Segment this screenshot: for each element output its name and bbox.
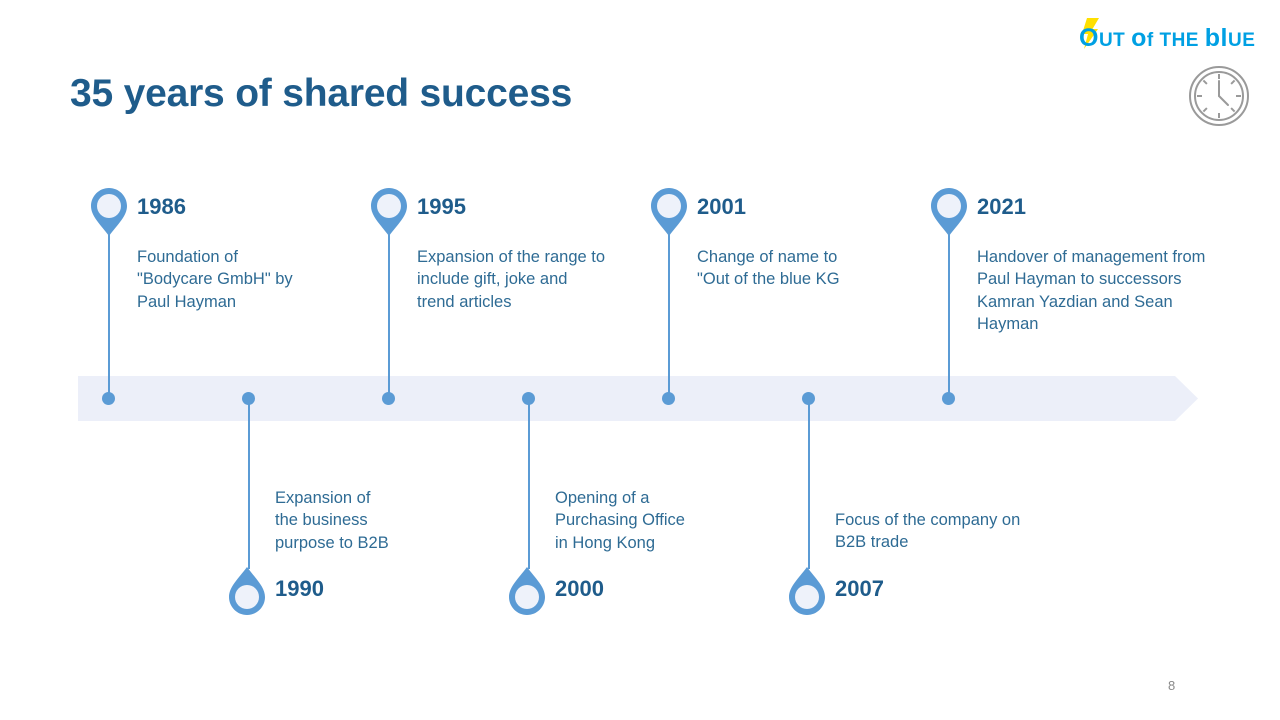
year-label-1986: 1986 [137, 196, 186, 218]
page-title: 35 years of shared success [70, 72, 572, 116]
slide-canvas: OUT of THE blUE 35 years of shared succe… [0, 0, 1280, 720]
timeline-dot-2001 [662, 392, 675, 405]
clock-icon [1188, 65, 1250, 127]
event-description-1986: Foundation of "Bodycare GmbH" by Paul Ha… [137, 246, 367, 313]
year-label-2001: 2001 [697, 196, 746, 218]
connector-line-2021 [948, 232, 950, 397]
timeline-dot-1995 [382, 392, 395, 405]
year-label-2021: 2021 [977, 196, 1026, 218]
logo-wordmark: OUT of THE blUE [1079, 24, 1255, 52]
connector-line-2001 [668, 232, 670, 397]
year-label-2000: 2000 [555, 578, 604, 600]
year-label-1990: 1990 [275, 578, 324, 600]
map-pin-icon-1995 [369, 186, 409, 238]
map-pin-icon-2021 [929, 186, 969, 238]
map-pin-icon-1990 [227, 565, 267, 617]
year-label-1995: 1995 [417, 196, 466, 218]
map-pin-icon-2000 [507, 565, 547, 617]
event-description-2021: Handover of management from Paul Hayman … [977, 246, 1247, 336]
event-description-2007: Focus of the company on B2B trade [835, 509, 1075, 554]
company-logo: OUT of THE blUE [1073, 16, 1273, 62]
event-description-2000: Opening of a Purchasing Office in Hong K… [555, 487, 755, 554]
timeline-dot-1990 [242, 392, 255, 405]
map-pin-icon-2007 [787, 565, 827, 617]
connector-line-2000 [528, 399, 530, 569]
connector-line-2007 [808, 399, 810, 569]
timeline-dot-1986 [102, 392, 115, 405]
timeline-dot-2007 [802, 392, 815, 405]
event-description-2001: Change of name to "Out of the blue KG [697, 246, 927, 291]
page-number: 8 [1168, 678, 1175, 693]
event-description-1995: Expansion of the range to include gift, … [417, 246, 657, 313]
event-description-1990: Expansion of the business purpose to B2B [275, 487, 455, 554]
connector-line-1986 [108, 232, 110, 397]
timeline-dot-2000 [522, 392, 535, 405]
timeline-dot-2021 [942, 392, 955, 405]
year-label-2007: 2007 [835, 578, 884, 600]
connector-line-1990 [248, 399, 250, 569]
map-pin-icon-2001 [649, 186, 689, 238]
connector-line-1995 [388, 232, 390, 397]
map-pin-icon-1986 [89, 186, 129, 238]
